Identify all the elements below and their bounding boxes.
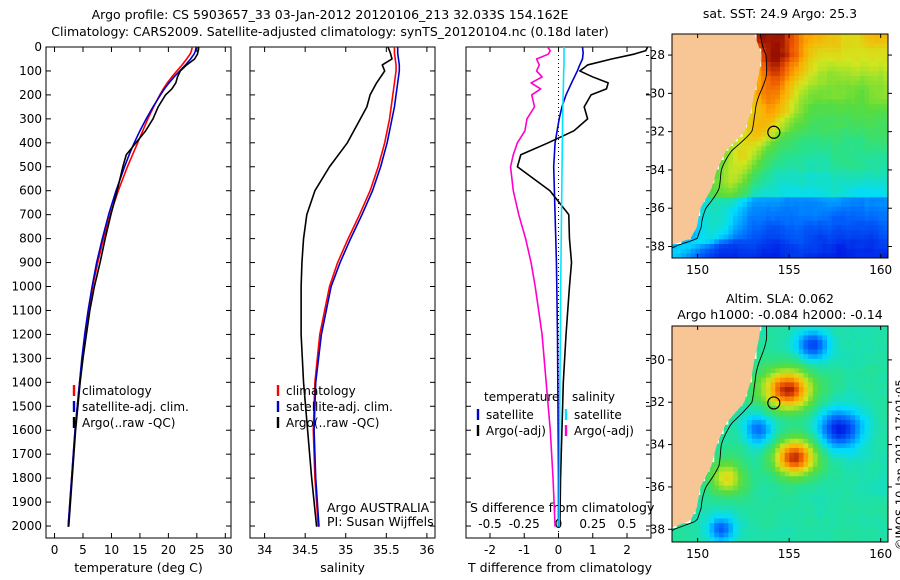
map-cell (710, 481, 715, 486)
map-cell (818, 193, 823, 198)
map-cell (808, 132, 813, 137)
map-cell (850, 165, 855, 170)
map-cell (860, 109, 865, 114)
map-cell (789, 396, 794, 401)
map-cell (714, 244, 719, 249)
map-cell (836, 472, 841, 477)
map-cell (841, 490, 846, 495)
map-cell (780, 95, 785, 100)
map-cell (869, 335, 874, 340)
map-cell (850, 457, 855, 462)
map-cell (813, 514, 818, 519)
map-cell (803, 249, 808, 254)
map-cell (832, 132, 837, 137)
map-cell (865, 340, 870, 345)
map-cell (855, 387, 860, 392)
map-cell (803, 373, 808, 378)
map-cell (803, 85, 808, 90)
map-cell (879, 123, 884, 128)
map-cell (855, 331, 860, 336)
map-cell (841, 495, 846, 500)
map-cell (766, 472, 771, 477)
map-cell (846, 244, 851, 249)
map-cell (780, 249, 785, 254)
map-cell (865, 457, 870, 462)
map-cell (827, 340, 832, 345)
map-cell (771, 43, 776, 48)
map-cell (818, 90, 823, 95)
map-cell (785, 221, 790, 226)
map-cell (780, 146, 785, 151)
map-cell (766, 48, 771, 53)
map-cell (846, 221, 851, 226)
map-cell (728, 462, 733, 467)
map-cell (742, 151, 747, 156)
map-cell (827, 509, 832, 514)
map-cell (747, 202, 752, 207)
map-cell (771, 132, 776, 137)
map-cell (785, 406, 790, 411)
map-cell (841, 151, 846, 156)
map-cell (836, 207, 841, 212)
map-cell (785, 118, 790, 123)
map-cell (865, 151, 870, 156)
map-cell (747, 239, 752, 244)
map-cell (822, 387, 827, 392)
map-cell (771, 165, 776, 170)
map-cell (803, 509, 808, 514)
map-cell (818, 62, 823, 67)
map-cell (803, 504, 808, 509)
map-cell (728, 457, 733, 462)
map-cell (752, 429, 757, 434)
map-cell (818, 57, 823, 62)
map-cell (789, 533, 794, 538)
map-cell (832, 439, 837, 444)
map-cell (733, 235, 738, 240)
map-cell (865, 244, 870, 249)
map-cell (841, 113, 846, 118)
x-tick-label: 1 (589, 543, 597, 557)
map-cell (761, 207, 766, 212)
map-cell (832, 53, 837, 58)
map-cell (799, 364, 804, 369)
map-cell (860, 457, 865, 462)
map-cell (874, 132, 879, 137)
map-cell (761, 500, 766, 505)
map-cell (865, 467, 870, 472)
map-cell (836, 500, 841, 505)
map-cell (785, 481, 790, 486)
map-cell (855, 104, 860, 109)
map-cell (860, 345, 865, 350)
map-cell (869, 230, 874, 235)
map-cell (832, 141, 837, 146)
map-cell (766, 109, 771, 114)
map-cell (738, 415, 743, 420)
map-cell (832, 43, 837, 48)
map-cell (860, 221, 865, 226)
map-cell (808, 81, 813, 86)
map-cell (841, 71, 846, 76)
map-cell (799, 34, 804, 39)
map-cell (803, 244, 808, 249)
map-cell (869, 528, 874, 533)
map-cell (766, 53, 771, 58)
map-cell (757, 406, 762, 411)
map-cell (766, 85, 771, 90)
map-cell (747, 249, 752, 254)
map-cell (850, 99, 855, 104)
map-cell (766, 368, 771, 373)
map-cell (827, 81, 832, 86)
map-cell (780, 239, 785, 244)
map-cell (724, 221, 729, 226)
map-cell (775, 249, 780, 254)
map-cell (822, 244, 827, 249)
map-cell (879, 244, 884, 249)
map-cell (742, 202, 747, 207)
map-cell (808, 127, 813, 132)
map-cell (761, 495, 766, 500)
map-cell (775, 340, 780, 345)
map-cell (785, 439, 790, 444)
map-cell (780, 443, 785, 448)
map-cell (850, 137, 855, 142)
map-cell (803, 354, 808, 359)
map-cell (757, 235, 762, 240)
map-cell (789, 420, 794, 425)
map-cell (724, 486, 729, 491)
map-cell (771, 225, 776, 230)
longitude-tick-label: 150 (686, 547, 709, 561)
map-cell (874, 109, 879, 114)
map-cell (775, 193, 780, 198)
map-cell (832, 364, 837, 369)
map-cell (747, 225, 752, 230)
map-cell (738, 490, 743, 495)
map-cell (822, 523, 827, 528)
map-cell (850, 188, 855, 193)
map-cell (803, 340, 808, 345)
map-cell (780, 429, 785, 434)
map-cell (789, 113, 794, 118)
map-cell (865, 174, 870, 179)
map-cell (695, 528, 700, 533)
map-cell (869, 462, 874, 467)
map-cell (808, 43, 813, 48)
map-cell (818, 411, 823, 416)
map-cell (822, 34, 827, 39)
map-cell (799, 81, 804, 86)
map-cell (813, 230, 818, 235)
map-cell (710, 495, 715, 500)
map-cell (836, 387, 841, 392)
map-cell (813, 392, 818, 397)
map-cell (846, 411, 851, 416)
map-cell (728, 193, 733, 198)
map-cell (832, 340, 837, 345)
map-cell (728, 174, 733, 179)
map-cell (813, 401, 818, 406)
map-cell (850, 34, 855, 39)
map-cell (818, 169, 823, 174)
map-cell (771, 244, 776, 249)
depth-tick-label: 300 (19, 112, 42, 126)
map-cell (789, 401, 794, 406)
map-cell (695, 244, 700, 249)
map-cell (846, 132, 851, 137)
map-cell (827, 382, 832, 387)
map-cell (803, 378, 808, 383)
map-cell (869, 378, 874, 383)
map-cell (775, 457, 780, 462)
map-cell (874, 48, 879, 53)
map-cell (822, 368, 827, 373)
map-cell (785, 53, 790, 58)
map-cell (761, 509, 766, 514)
map-cell (841, 519, 846, 524)
sst-map-title: sat. SST: 24.9 Argo: 25.3 (672, 6, 888, 22)
map-cell (794, 71, 799, 76)
map-cell (865, 113, 870, 118)
map-cell (813, 34, 818, 39)
map-cell (836, 519, 841, 524)
map-cell (728, 453, 733, 458)
map-cell (785, 137, 790, 142)
map-cell (780, 104, 785, 109)
map-cell (799, 99, 804, 104)
map-cell (757, 207, 762, 212)
map-cell (761, 174, 766, 179)
map-cell (846, 216, 851, 221)
map-cell (785, 207, 790, 212)
map-cell (860, 211, 865, 216)
map-cell (836, 179, 841, 184)
map-cell (874, 179, 879, 184)
map-cell (738, 146, 743, 151)
map-cell (794, 239, 799, 244)
map-cell (813, 123, 818, 128)
map-cell (775, 476, 780, 481)
map-cell (733, 244, 738, 249)
map-cell (714, 216, 719, 221)
map-cell (775, 165, 780, 170)
legend-header: temperature (484, 390, 559, 404)
map-cell (775, 230, 780, 235)
map-cell (832, 528, 837, 533)
map-cell (728, 179, 733, 184)
map-cell (780, 48, 785, 53)
map-cell (799, 514, 804, 519)
map-cell (808, 85, 813, 90)
map-cell (874, 155, 879, 160)
map-cell (836, 457, 841, 462)
map-cell (785, 216, 790, 221)
map-cell (813, 420, 818, 425)
map-cell (813, 146, 818, 151)
map-cell (827, 48, 832, 53)
map-cell (742, 207, 747, 212)
copyright-notice: ©IMOS 10-Jan-2012 17:01:05 (879, 372, 897, 552)
map-cell (775, 76, 780, 81)
map-cell (775, 160, 780, 165)
map-cell (700, 230, 705, 235)
map-cell (874, 141, 879, 146)
map-cell (832, 326, 837, 331)
map-cell (865, 141, 870, 146)
map-cell (803, 197, 808, 202)
map-cell (752, 486, 757, 491)
map-cell (865, 519, 870, 524)
map-cell (869, 118, 874, 123)
map-cell (803, 368, 808, 373)
map-cell (827, 472, 832, 477)
map-cell (710, 528, 715, 533)
map-cell (827, 453, 832, 458)
map-cell (710, 244, 715, 249)
map-cell (752, 132, 757, 137)
latitude-tick-label: -38 (645, 522, 665, 536)
map-cell (846, 378, 851, 383)
map-cell (841, 528, 846, 533)
map-cell (832, 197, 837, 202)
map-cell (836, 230, 841, 235)
map-cell (860, 331, 865, 336)
map-cell (757, 420, 762, 425)
map-cell (799, 340, 804, 345)
map-cell (757, 169, 762, 174)
map-cell (757, 434, 762, 439)
map-cell (808, 95, 813, 100)
map-cell (808, 443, 813, 448)
sst-map[interactable]: -28-30-32-34-36-38150155160 (640, 30, 898, 288)
map-cell (672, 249, 677, 254)
map-cell (747, 188, 752, 193)
map-cell (780, 401, 785, 406)
map-cell (752, 216, 757, 221)
map-cell (738, 425, 743, 430)
map-cell (855, 48, 860, 53)
map-cell (728, 244, 733, 249)
map-cell (799, 216, 804, 221)
map-cell (794, 183, 799, 188)
map-cell (799, 420, 804, 425)
map-cell (832, 448, 837, 453)
map-cell (803, 53, 808, 58)
map-cell (789, 249, 794, 254)
map-cell (766, 486, 771, 491)
map-cell (766, 39, 771, 44)
map-cell (775, 504, 780, 509)
map-cell (719, 249, 724, 254)
map-cell (850, 155, 855, 160)
map-cell (860, 420, 865, 425)
map-cell (761, 401, 766, 406)
map-cell (841, 160, 846, 165)
map-cell (860, 349, 865, 354)
map-cell (724, 230, 729, 235)
map-cell (869, 453, 874, 458)
map-cell (865, 490, 870, 495)
map-cell (855, 230, 860, 235)
x-tick-label: 35.5 (373, 543, 400, 557)
map-cell (799, 160, 804, 165)
map-cell (850, 225, 855, 230)
map-cell (742, 504, 747, 509)
map-cell (761, 104, 766, 109)
map-cell (766, 76, 771, 81)
map-cell (766, 146, 771, 151)
map-cell (747, 443, 752, 448)
map-cell (775, 368, 780, 373)
map-cell (799, 429, 804, 434)
map-cell (827, 396, 832, 401)
map-cell (775, 57, 780, 62)
map-cell (850, 249, 855, 254)
map-cell (841, 104, 846, 109)
sla-map[interactable]: -30-32-34-36-38150155160 (640, 322, 898, 572)
map-cell (803, 211, 808, 216)
map-cell (724, 183, 729, 188)
map-cell (719, 490, 724, 495)
map-cell (874, 174, 879, 179)
map-cell (757, 118, 762, 123)
map-cell (850, 486, 855, 491)
map-cell (780, 392, 785, 397)
map-cell (742, 225, 747, 230)
map-cell (874, 249, 879, 254)
map-cell (738, 193, 743, 198)
map-cell (728, 509, 733, 514)
map-cell (879, 235, 884, 240)
map-cell (752, 230, 757, 235)
map-cell (846, 533, 851, 538)
map-cell (789, 202, 794, 207)
map-cell (836, 193, 841, 198)
map-cell (865, 221, 870, 226)
map-cell (761, 533, 766, 538)
map-cell (822, 354, 827, 359)
map-cell (719, 235, 724, 240)
map-cell (860, 71, 865, 76)
map-cell (794, 81, 799, 86)
map-cell (846, 53, 851, 58)
map-cell (836, 249, 841, 254)
map-cell (752, 467, 757, 472)
map-cell (738, 197, 743, 202)
map-cell (780, 495, 785, 500)
map-cell (794, 141, 799, 146)
map-cell (860, 183, 865, 188)
legend-label: Argo(-adj) (486, 424, 546, 438)
map-cell (865, 71, 870, 76)
map-cell (803, 127, 808, 132)
map-cell (799, 211, 804, 216)
map-cell (738, 443, 743, 448)
map-cell (789, 415, 794, 420)
map-cell (742, 453, 747, 458)
map-cell (775, 349, 780, 354)
map-cell (794, 368, 799, 373)
map-cell (757, 378, 762, 383)
map-cell (780, 211, 785, 216)
map-cell (700, 533, 705, 538)
map-cell (714, 486, 719, 491)
map-cell (789, 335, 794, 340)
map-cell (860, 132, 865, 137)
map-cell (785, 415, 790, 420)
